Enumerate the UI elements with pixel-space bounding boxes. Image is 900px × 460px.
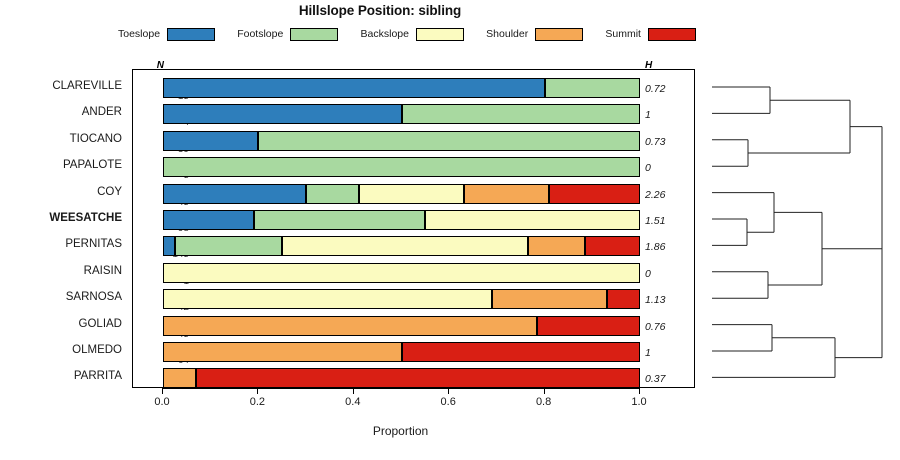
bar-track xyxy=(163,104,640,124)
y-axis-label: SARNOSA xyxy=(0,291,122,303)
y-axis-label: RAISIN xyxy=(0,265,122,277)
bar-segment-toeslope xyxy=(163,104,402,124)
bar-segment-footslope xyxy=(163,157,640,177)
bar-track xyxy=(163,316,640,336)
bar-track xyxy=(163,368,640,388)
legend-label: Summit xyxy=(605,28,641,40)
bar-segment-backslope xyxy=(359,184,464,204)
legend-swatch xyxy=(648,28,696,41)
bar-row xyxy=(163,104,640,124)
legend-entry: Backslope xyxy=(361,28,464,41)
bar-segment-toeslope xyxy=(163,210,254,230)
bar-segment-summit xyxy=(585,236,640,256)
page-title: Hillslope Position: sibling xyxy=(0,3,760,18)
bar-segment-toeslope xyxy=(163,78,545,98)
h-value: 0.73 xyxy=(645,136,691,148)
legend-label: Shoulder xyxy=(486,28,528,40)
bar-row xyxy=(163,157,640,177)
x-axis-tick xyxy=(639,388,640,394)
bar-track xyxy=(163,157,640,177)
legend-label: Footslope xyxy=(237,28,283,40)
y-axis-labels: CLAREVILLEANDERTIOCANOPAPALOTECOYWEESATC… xyxy=(0,69,128,388)
bar-segment-footslope xyxy=(258,131,640,151)
legend-swatch xyxy=(290,28,338,41)
h-value: 0 xyxy=(645,268,691,280)
bar-row xyxy=(163,184,640,204)
x-axis-tick xyxy=(448,388,449,394)
bars-area xyxy=(163,70,640,389)
bar-segment-summit xyxy=(537,316,640,336)
h-value: 1.51 xyxy=(645,215,691,227)
bar-row xyxy=(163,342,640,362)
bar-row xyxy=(163,289,640,309)
bar-segment-backslope xyxy=(163,289,492,309)
x-axis-tick-label: 0.0 xyxy=(142,396,182,408)
bar-segment-footslope xyxy=(175,236,282,256)
bar-row xyxy=(163,131,640,151)
legend-entry: Shoulder xyxy=(486,28,583,41)
legend-label: Toeslope xyxy=(118,28,160,40)
bar-row xyxy=(163,210,640,230)
bar-segment-summit xyxy=(402,342,641,362)
x-axis-tick-label: 0.2 xyxy=(237,396,277,408)
legend: ToeslopeFootslopeBackslopeShoulderSummit xyxy=(118,26,696,42)
h-value: 1.13 xyxy=(645,294,691,306)
bar-row xyxy=(163,263,640,283)
x-axis: 0.00.20.40.60.81.0 xyxy=(162,388,639,418)
bar-row xyxy=(163,78,640,98)
x-axis-tick-label: 0.6 xyxy=(428,396,468,408)
bar-track xyxy=(163,210,640,230)
y-axis-label: CLAREVILLE xyxy=(0,80,122,92)
bar-segment-shoulder xyxy=(528,236,585,256)
bar-segment-backslope xyxy=(425,210,640,230)
bar-row xyxy=(163,316,640,336)
dendrogram-svg xyxy=(700,60,900,400)
y-axis-label: PAPALOTE xyxy=(0,159,122,171)
h-value: 1 xyxy=(645,109,691,121)
y-axis-label: OLMEDO xyxy=(0,344,122,356)
bar-segment-toeslope xyxy=(163,184,306,204)
plot-panel: N H 150.7241390.7350452.26981.511451.861… xyxy=(132,69,695,388)
h-value: 1 xyxy=(645,347,691,359)
h-value: 1.86 xyxy=(645,241,691,253)
legend-swatch xyxy=(167,28,215,41)
y-axis-label: GOLIAD xyxy=(0,318,122,330)
bar-segment-footslope xyxy=(254,210,426,230)
bar-segment-summit xyxy=(549,184,640,204)
stacked-bar-dendrogram-figure: Hillslope Position: sibling ToeslopeFoot… xyxy=(0,0,900,460)
bar-segment-shoulder xyxy=(163,316,537,336)
h-column-header: H xyxy=(645,60,691,71)
bar-segment-backslope xyxy=(282,236,528,256)
y-axis-label: COY xyxy=(0,186,122,198)
bar-segment-footslope xyxy=(545,78,640,98)
h-value: 0.72 xyxy=(645,83,691,95)
bar-segment-summit xyxy=(196,368,640,388)
bar-segment-footslope xyxy=(306,184,358,204)
legend-entry: Summit xyxy=(605,28,696,41)
x-axis-tick xyxy=(257,388,258,394)
bar-segment-footslope xyxy=(402,104,641,124)
x-axis-title: Proportion xyxy=(162,424,639,438)
h-value: 0.76 xyxy=(645,321,691,333)
legend-swatch xyxy=(535,28,583,41)
bar-segment-toeslope xyxy=(163,236,175,256)
bar-track xyxy=(163,289,640,309)
legend-entry: Toeslope xyxy=(118,28,215,41)
x-axis-tick-label: 0.4 xyxy=(333,396,373,408)
y-axis-label: ANDER xyxy=(0,106,122,118)
x-axis-tick-label: 0.8 xyxy=(524,396,564,408)
legend-entry: Footslope xyxy=(237,28,338,41)
bar-track xyxy=(163,342,640,362)
n-column-header: N xyxy=(130,60,164,71)
h-value: 0.37 xyxy=(645,373,691,385)
h-value: 0 xyxy=(645,162,691,174)
y-axis-label: WEESATCHE xyxy=(0,212,122,224)
bar-track xyxy=(163,263,640,283)
bar-row xyxy=(163,236,640,256)
bar-track xyxy=(163,236,640,256)
bar-segment-summit xyxy=(607,289,640,309)
bar-segment-shoulder xyxy=(163,342,402,362)
legend-label: Backslope xyxy=(361,28,409,40)
x-axis-tick xyxy=(353,388,354,394)
bar-segment-shoulder xyxy=(163,368,196,388)
legend-swatch xyxy=(416,28,464,41)
y-axis-label: PERNITAS xyxy=(0,238,122,250)
bar-row xyxy=(163,368,640,388)
bar-segment-toeslope xyxy=(163,131,258,151)
bar-segment-shoulder xyxy=(492,289,606,309)
x-axis-tick xyxy=(544,388,545,394)
y-axis-label: PARRITA xyxy=(0,370,122,382)
bar-track xyxy=(163,78,640,98)
x-axis-tick-label: 1.0 xyxy=(619,396,659,408)
h-value: 2.26 xyxy=(645,189,691,201)
bar-segment-shoulder xyxy=(464,184,550,204)
bar-segment-backslope xyxy=(163,263,640,283)
x-axis-tick xyxy=(162,388,163,394)
bar-track xyxy=(163,184,640,204)
dendrogram xyxy=(700,60,900,400)
y-axis-label: TIOCANO xyxy=(0,133,122,145)
bar-track xyxy=(163,131,640,151)
